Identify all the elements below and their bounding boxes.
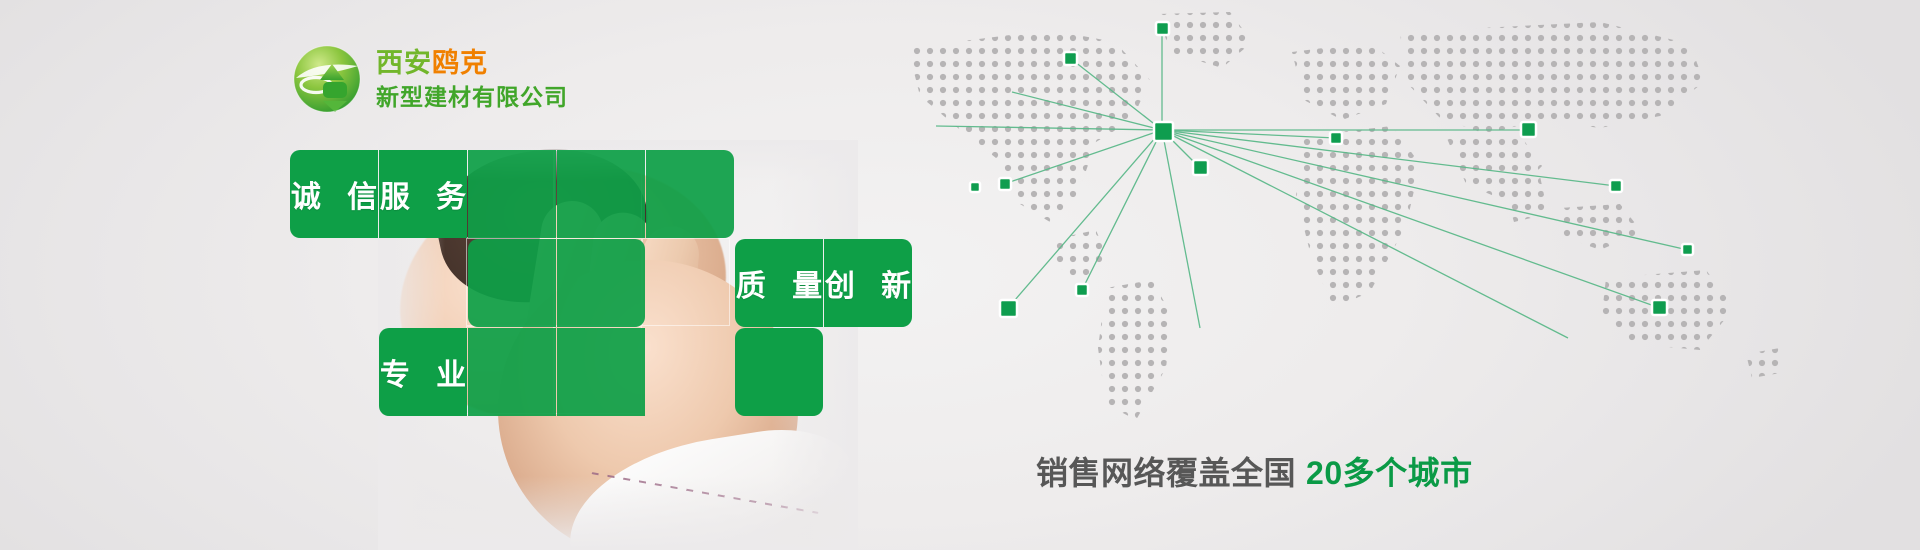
leaf-globe-logo-icon [292, 44, 362, 114]
tile-blank-r3c4[interactable] [557, 328, 645, 416]
node [1330, 132, 1342, 144]
company-name-line1: 西安鸥克 [376, 50, 568, 77]
node [1521, 122, 1536, 137]
company-brand: 鸥克 [432, 48, 488, 78]
tile-professional[interactable]: 专 业 [379, 328, 467, 416]
node [1064, 52, 1077, 65]
node-hub [1154, 122, 1173, 141]
node [1610, 180, 1622, 192]
tile-blank-r2c3[interactable] [468, 239, 556, 327]
tile-quality[interactable]: 质 量 [735, 239, 823, 327]
tile-blank-r2c4[interactable] [557, 239, 645, 327]
company-logo[interactable]: 西安鸥克 新型建材有限公司 [292, 44, 568, 114]
node [999, 178, 1011, 190]
company-name: 西安鸥克 新型建材有限公司 [376, 50, 568, 109]
node [1652, 300, 1667, 315]
world-dot-map-icon [900, 8, 1920, 428]
hero-banner: 西安鸥克 新型建材有限公司 诚 信 服 务 [0, 0, 1920, 550]
node [1193, 160, 1208, 175]
node [1156, 22, 1169, 35]
tile-integrity[interactable]: 诚 信 [290, 150, 378, 238]
node [1076, 284, 1088, 296]
node [970, 182, 980, 192]
node [1000, 300, 1017, 317]
glass-cell [642, 238, 730, 326]
company-name-line2: 新型建材有限公司 [376, 86, 568, 109]
tile-innovation[interactable]: 创 新 [824, 239, 912, 327]
tile-blank-r1c3[interactable] [468, 150, 556, 238]
node [1682, 244, 1693, 255]
tile-blank-r1c5[interactable] [646, 150, 734, 238]
tagline-highlight: 20多个城市 [1296, 455, 1473, 491]
tile-service[interactable]: 服 务 [379, 150, 467, 238]
values-tile-grid: 诚 信 服 务 质 量 创 新 专 业 [290, 150, 902, 414]
sales-network-tagline: 销售网络覆盖全国20多个城市 [1036, 448, 1473, 494]
tile-blank-r3c6[interactable] [735, 328, 823, 416]
tile-service-label: 服 务 [371, 172, 475, 216]
tile-professional-label: 专 业 [371, 350, 475, 394]
tile-blank-r3c3[interactable] [468, 328, 556, 416]
company-city: 西安 [376, 48, 432, 78]
tile-blank-r1c4[interactable] [557, 150, 645, 238]
tagline-prefix: 销售网络覆盖全国 [1036, 455, 1296, 491]
